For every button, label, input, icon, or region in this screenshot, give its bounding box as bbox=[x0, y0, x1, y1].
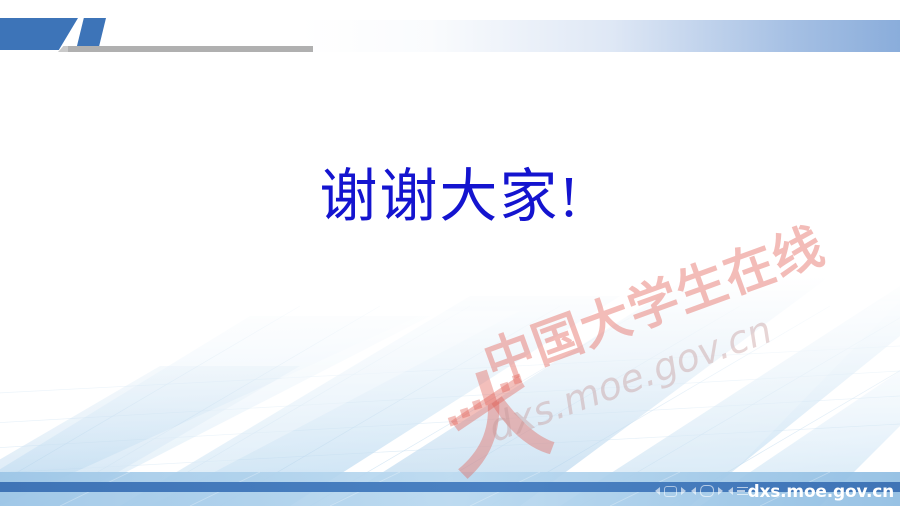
nav-group-1[interactable] bbox=[655, 486, 686, 497]
bottom-decorative-graphic bbox=[0, 276, 900, 506]
next-arrow-icon[interactable] bbox=[718, 487, 723, 495]
header-gradient-band bbox=[300, 20, 900, 52]
watermark-url: dxs.moe.gov.cn bbox=[482, 307, 777, 450]
hexagon-icon[interactable] bbox=[699, 485, 715, 497]
prev-arrow-icon[interactable] bbox=[728, 487, 733, 495]
watermark-organization: 中国大学生在线 bbox=[473, 206, 833, 396]
prev-arrow-icon[interactable] bbox=[691, 487, 696, 495]
footer-url[interactable]: dxs.moe.gov.cn bbox=[748, 482, 894, 502]
watermark: 中国大学生在线 dxs.moe.gov.cn bbox=[430, 268, 900, 468]
next-arrow-icon[interactable] bbox=[681, 487, 686, 495]
slide-title-area: 谢谢大家! bbox=[0, 165, 900, 229]
menu-lines-icon[interactable] bbox=[737, 487, 748, 496]
nav-group-2[interactable] bbox=[691, 485, 723, 497]
slide-title: 谢谢大家! bbox=[319, 165, 580, 229]
presentation-slide: 谢谢大家! bbox=[0, 0, 900, 506]
header-accent-parallelogram bbox=[0, 18, 78, 50]
slide-navigation-controls[interactable] bbox=[655, 485, 748, 497]
nav-group-3[interactable] bbox=[728, 487, 748, 496]
rounded-square-icon[interactable] bbox=[664, 486, 677, 497]
watermark-logo-icon bbox=[424, 350, 562, 487]
header-rule bbox=[68, 46, 313, 52]
footer-bar: dxs.moe.gov.cn bbox=[0, 472, 900, 506]
prev-arrow-icon[interactable] bbox=[655, 487, 660, 495]
